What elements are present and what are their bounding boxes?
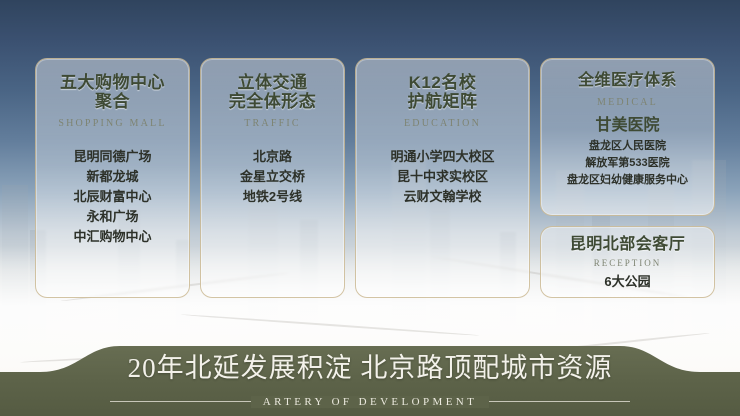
card-items-medical: 甘美医院 盘龙区人民医院 解放军第533医院 盘龙区妇幼健康服务中心: [541, 114, 714, 189]
card-title-line: 护航矩阵: [356, 92, 529, 111]
card-title-line: 立体交通: [201, 73, 344, 92]
feature-card-traffic[interactable]: 立体交通 完全体形态 TRAFFIC 北京路 金星立交桥 地铁2号线: [200, 58, 345, 298]
feature-card-education[interactable]: K12名校 护航矩阵 EDUCATION 明通小学四大校区 昆十中求实校区 云财…: [355, 58, 530, 298]
banner-headline: 20年北延发展积淀 北京路顶配城市资源: [0, 352, 740, 385]
list-item: 昆十中求实校区: [356, 167, 529, 187]
card-subtitle-traffic: TRAFFIC: [201, 118, 344, 129]
card-title-line: 全维医疗体系: [541, 71, 714, 90]
list-item: 明通小学四大校区: [356, 147, 529, 167]
list-item: 北京路: [201, 147, 344, 167]
poster-root: 五大购物中心 聚合 SHOPPING MALL 昆明同德广场 新都龙城 北辰财富…: [0, 0, 740, 416]
card-title-medical: 全维医疗体系: [541, 71, 714, 90]
card-title-line: 五大购物中心: [36, 73, 189, 92]
list-item: 地铁2号线: [201, 187, 344, 207]
card-title-line: 聚合: [36, 92, 189, 111]
card-title-traffic: 立体交通 完全体形态: [201, 73, 344, 111]
feature-card-grid: 五大购物中心 聚合 SHOPPING MALL 昆明同德广场 新都龙城 北辰财富…: [0, 0, 740, 330]
bottom-banner: 20年北延发展积淀 北京路顶配城市资源 ARTERY OF DEVELOPMEN…: [0, 346, 740, 416]
card-title-shopping: 五大购物中心 聚合: [36, 73, 189, 111]
card-title-line: 完全体形态: [201, 92, 344, 111]
card-title-line: K12名校: [356, 73, 529, 92]
list-item: 6大公园: [541, 273, 714, 290]
feature-card-medical[interactable]: 全维医疗体系 MEDICAL 甘美医院 盘龙区人民医院 解放军第533医院 盘龙…: [540, 58, 715, 216]
card-subtitle-reception: RECEPTION: [541, 258, 714, 268]
card-items-shopping: 昆明同德广场 新都龙城 北辰财富中心 永和广场 中汇购物中心: [36, 147, 189, 247]
card-title-education: K12名校 护航矩阵: [356, 73, 529, 111]
list-item: 新都龙城: [36, 167, 189, 187]
banner-subline: ARTERY OF DEVELOPMENT: [0, 392, 740, 410]
list-item: 北辰财富中心: [36, 187, 189, 207]
banner-subline-text: ARTERY OF DEVELOPMENT: [251, 396, 490, 408]
list-item: 盘龙区人民医院: [541, 138, 714, 155]
feature-card-reception[interactable]: 昆明北部会客厅 RECEPTION 6大公园: [540, 226, 715, 298]
list-item: 金星立交桥: [201, 167, 344, 187]
list-item: 解放军第533医院: [541, 155, 714, 172]
card-subtitle-education: EDUCATION: [356, 118, 529, 129]
list-item: 昆明同德广场: [36, 147, 189, 167]
list-item: 云财文翰学校: [356, 187, 529, 207]
list-item: 永和广场: [36, 207, 189, 227]
card-subtitle-shopping: SHOPPING MALL: [36, 118, 189, 129]
feature-card-shopping[interactable]: 五大购物中心 聚合 SHOPPING MALL 昆明同德广场 新都龙城 北辰财富…: [35, 58, 190, 298]
card-lead-medical: 甘美医院: [541, 114, 714, 137]
card-title-reception: 昆明北部会客厅: [541, 235, 714, 254]
banner-subline-wrap: ARTERY OF DEVELOPMENT: [0, 392, 740, 410]
card-items-traffic: 北京路 金星立交桥 地铁2号线: [201, 147, 344, 207]
card-title-line: 昆明北部会客厅: [541, 235, 714, 254]
list-item: 盘龙区妇幼健康服务中心: [541, 172, 714, 189]
list-item: 中汇购物中心: [36, 227, 189, 247]
card-items-reception: 6大公园: [541, 273, 714, 290]
card-items-education: 明通小学四大校区 昆十中求实校区 云财文翰学校: [356, 147, 529, 207]
card-subtitle-medical: MEDICAL: [541, 97, 714, 108]
